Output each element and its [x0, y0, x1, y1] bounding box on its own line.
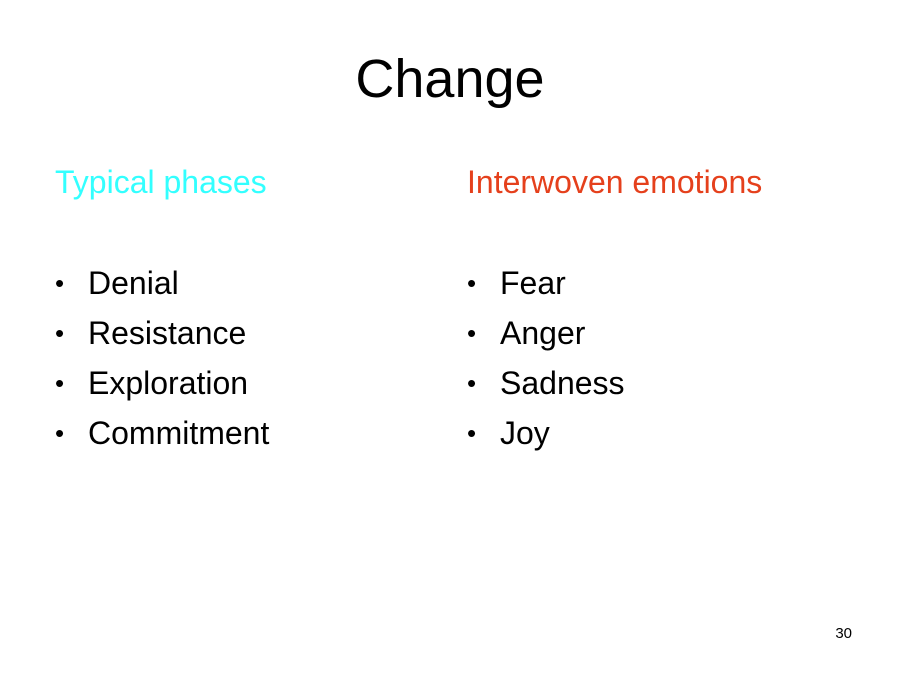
list-item-label: Exploration	[88, 365, 248, 401]
bullet-list-typical-phases: • Denial • Resistance • Exploration • Co…	[53, 258, 453, 458]
bullet-icon: •	[467, 308, 487, 358]
list-item-label: Joy	[500, 415, 550, 451]
page-title: Change	[0, 48, 900, 110]
list-item: • Denial	[53, 258, 453, 308]
column-heading-typical-phases: Typical phases	[55, 163, 453, 201]
list-item-label: Commitment	[88, 415, 269, 451]
column-heading-interwoven-emotions: Interwoven emotions	[467, 163, 865, 201]
list-item: • Anger	[465, 308, 865, 358]
bullet-icon: •	[467, 358, 487, 408]
list-item: • Resistance	[53, 308, 453, 358]
bullet-icon: •	[55, 308, 75, 358]
bullet-icon: •	[55, 358, 75, 408]
bullet-icon: •	[467, 258, 487, 308]
bullet-icon: •	[55, 258, 75, 308]
list-item: • Joy	[465, 408, 865, 458]
list-item: • Sadness	[465, 358, 865, 408]
list-item: • Commitment	[53, 408, 453, 458]
page-number: 30	[835, 625, 852, 643]
bullet-icon: •	[467, 408, 487, 458]
column-interwoven-emotions: Interwoven emotions • Fear • Anger • Sad…	[465, 163, 865, 201]
list-item-label: Anger	[500, 315, 585, 351]
bullet-list-interwoven-emotions: • Fear • Anger • Sadness • Joy	[465, 258, 865, 458]
list-item-label: Denial	[88, 265, 179, 301]
list-item-label: Fear	[500, 265, 566, 301]
list-item: • Fear	[465, 258, 865, 308]
list-item-label: Resistance	[88, 315, 246, 351]
list-item-label: Sadness	[500, 365, 625, 401]
list-item: • Exploration	[53, 358, 453, 408]
content-columns: Typical phases • Denial • Resistance • E…	[0, 163, 900, 503]
bullet-icon: •	[55, 408, 75, 458]
slide: Change Typical phases • Denial • Resista…	[0, 0, 900, 675]
column-typical-phases: Typical phases • Denial • Resistance • E…	[53, 163, 453, 201]
